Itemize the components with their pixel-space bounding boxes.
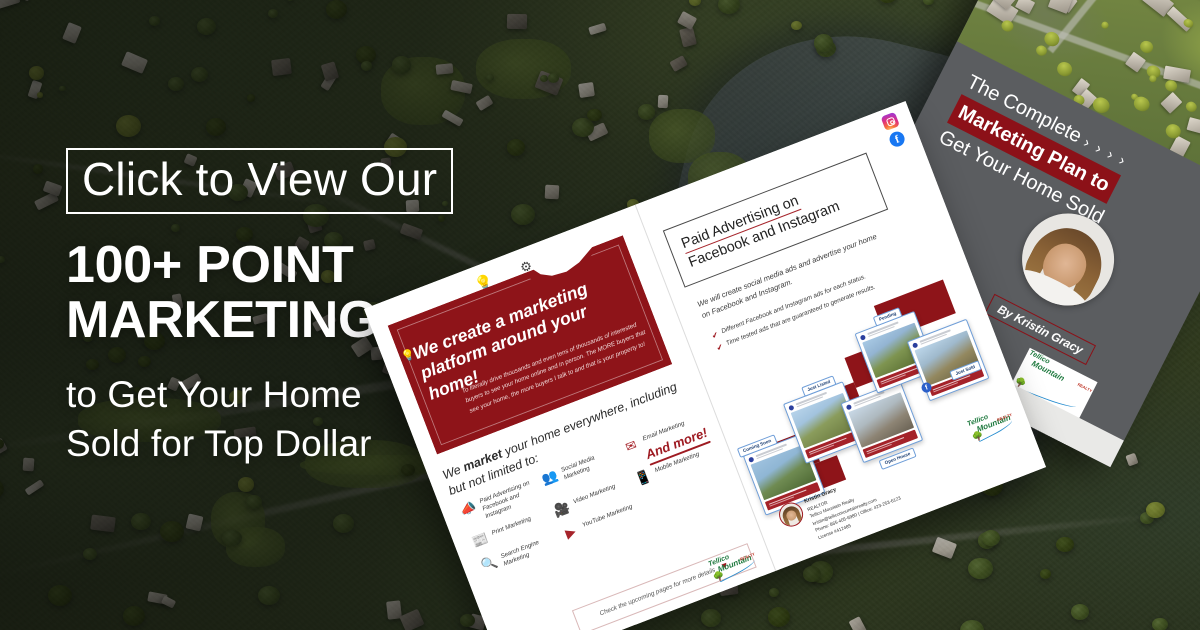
cover-house [1160,92,1181,113]
social-ad-card[interactable]: Open House [841,381,924,464]
cta-button[interactable]: Click to View Our [66,148,453,214]
youtube-icon: ▶ [558,520,583,545]
page-avatar-icon [748,456,754,462]
cover-house [1015,0,1035,14]
cover-tree [1138,38,1155,55]
newspaper-icon: 📰 [468,528,493,553]
social-network-icon: 👥 [537,465,562,490]
cover-tree [1055,59,1075,78]
page-avatar-icon [846,404,852,410]
facebook-icon: f [887,129,906,148]
envelope-icon: ✉ [619,434,644,459]
megaphone-icon: 📣 [456,496,481,521]
page-avatar-icon [788,405,794,411]
cover-tree [1034,44,1049,58]
instagram-icon [881,112,900,131]
cover-tree [1100,21,1109,30]
cover-house [1187,117,1200,136]
logo-sub: REALTY [1077,382,1093,394]
cta-label: Click to View Our [82,156,437,202]
logo-mark: Tellico Mountain REALTY 🌳 [705,544,761,586]
screenshot-stage: Click to View Our 100+ POINT MARKETING P… [0,0,1200,630]
page-avatar-icon [912,342,918,348]
left-page-brand-logo: Tellico Mountain REALTY 🌳 [705,544,761,586]
social-icons-group: f [881,112,907,149]
cover-house [1169,136,1191,159]
search-engine-icon: 🔍 [477,551,502,576]
cover-tree [1184,100,1199,114]
page-avatar-icon [860,334,866,340]
video-camera-icon: 🎥 [549,497,574,522]
mobile-phone-icon: 📱 [631,466,656,491]
